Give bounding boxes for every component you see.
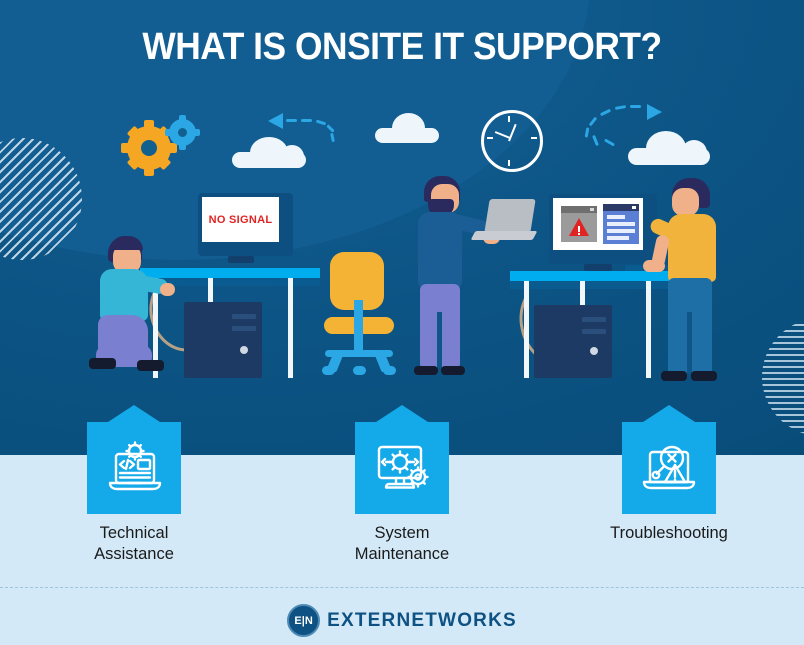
infographic-canvas: WHAT IS ONSITE IT SUPPORT?: [0, 0, 804, 645]
left-desk-leg-3: [288, 278, 293, 378]
person-2-laptop-base: [471, 231, 538, 240]
page-title: WHAT IS ONSITE IT SUPPORT?: [28, 26, 776, 69]
office-chair-wheel-1: [322, 366, 335, 375]
person-3-leg-gap: [687, 312, 692, 374]
card-label-1-line2: Assistance: [39, 544, 229, 565]
card-label-3: Troubleshooting: [574, 523, 764, 544]
clock-icon: [481, 110, 543, 172]
card-label-1-line1: Technical: [39, 523, 229, 544]
left-pc-tower: [184, 302, 262, 378]
arrow-icon-left: [268, 108, 338, 142]
person-1-shoe-1: [89, 358, 116, 369]
arrow-head-right: [647, 104, 662, 120]
right-desk-leg-1: [524, 281, 529, 378]
right-monitor-base: [584, 264, 612, 271]
footer-divider: [0, 587, 804, 588]
person-3-head: [672, 188, 699, 216]
card-pointer-2: [376, 405, 428, 422]
person-3-shoe-1: [661, 371, 687, 381]
card-pointer-3: [643, 405, 695, 422]
person-1-shoe-2: [137, 360, 164, 371]
no-signal-text: NO SIGNAL: [202, 214, 279, 226]
arrow-head-left: [268, 113, 283, 129]
office-chair-wheel-3: [353, 366, 366, 375]
laptop-code-gear-icon: [87, 422, 181, 514]
person-2-leg-gap: [437, 312, 442, 368]
gear-icon-small: [169, 119, 196, 146]
laptop-magnifier-warning-icon: [622, 422, 716, 514]
person-2-shoe-2: [441, 366, 465, 375]
logo-wordmark: EXTERNETWORKS: [327, 610, 517, 632]
logo-badge: E|N: [287, 604, 320, 637]
monitor-gear-wrench-icon: [355, 422, 449, 514]
cloud-icon-3-puff2: [681, 140, 707, 165]
card-label-3-line1: Troubleshooting: [574, 523, 764, 544]
person-3-shoe-2: [691, 371, 717, 381]
card-label-2: System Maintenance: [307, 523, 497, 565]
left-desk-top: [140, 268, 320, 278]
right-pc-tower: [534, 305, 612, 378]
error-window: [561, 206, 597, 242]
card-label-2-line1: System: [307, 523, 497, 544]
card-label-2-line2: Maintenance: [307, 544, 497, 565]
card-pointer-1: [108, 405, 160, 422]
office-chair-wheel-2: [383, 366, 396, 375]
person-3-shirt: [668, 214, 716, 282]
person-2-laptop-lid: [484, 199, 535, 233]
arrow-icon-right: [572, 100, 662, 140]
left-monitor-base: [228, 256, 254, 263]
cloud-icon-2-puff: [392, 113, 425, 143]
document-window: [603, 204, 639, 244]
person-1-hand: [160, 283, 175, 296]
right-desk-leg-3: [646, 281, 651, 378]
brand-logo[interactable]: E|N EXTERNETWORKS: [0, 604, 804, 637]
person-2-shoe-1: [414, 366, 438, 375]
cloud-icon-1-puff2: [280, 145, 304, 168]
card-label-1: Technical Assistance: [39, 523, 229, 565]
office-chair-pole: [354, 300, 363, 352]
